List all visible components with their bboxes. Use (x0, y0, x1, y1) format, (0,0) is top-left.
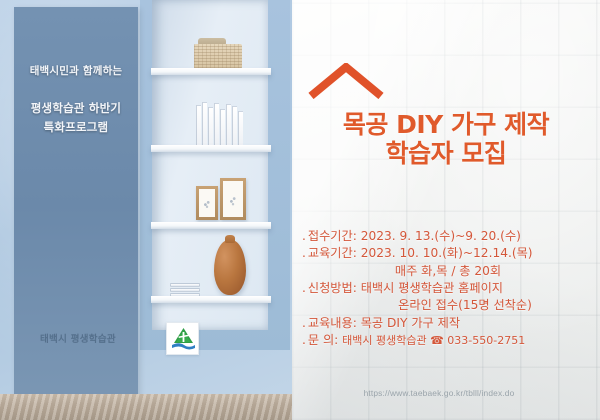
woven-basket (194, 44, 242, 68)
panel-line-3: 특화프로그램 (14, 119, 138, 135)
info-row-online-capacity: 온라인 접수(15명 선착순) (302, 297, 594, 314)
website-url[interactable]: https://www.taebaek.go.kr/tblll/index.do (292, 388, 586, 398)
panel-line-1: 태백시민과 함께하는 (14, 63, 138, 78)
info-bullet: . (302, 246, 306, 260)
info-value: 매주 화,목 / 총 20회 (302, 263, 594, 280)
left-photo-scene: 태백시민과 함께하는 평생학습관 하반기 특화프로그램 태백시 평생학습관 (0, 0, 292, 420)
info-row-schedule: 매주 화,목 / 총 20회 (302, 263, 594, 280)
book-row (196, 102, 246, 145)
shelf-3 (151, 222, 271, 229)
info-value: 2023. 9. 13.(수)~9. 20.(수) (361, 229, 521, 243)
info-label: 신청방법: (308, 281, 357, 295)
panel-line-2: 평생학습관 하반기 (14, 100, 138, 116)
title-line-1: 목공 DIY 가구 제작 (292, 110, 600, 139)
shelf-1 (151, 68, 271, 75)
bookcase-niche (152, 0, 268, 330)
institution-block: 태백시 평생학습관 (40, 318, 260, 358)
taebaek-lifelong-learning-center-logo-icon (166, 322, 199, 355)
picture-frame-large (220, 178, 246, 220)
right-content-scene: 목공 DIY 가구 제작 학습자 모집 .접수기간: 2023. 9. 13.(… (292, 0, 600, 420)
poster-root: 태백시민과 함께하는 평생학습관 하반기 특화프로그램 태백시 평생학습관 (0, 0, 600, 420)
poster-title: 목공 DIY 가구 제작 학습자 모집 (292, 110, 600, 168)
info-value: 태백시 평생학습관 ☎ 033-550-2751 (342, 334, 525, 347)
institution-label: 태백시 평생학습관 (40, 331, 116, 345)
info-label: 문 의: (308, 333, 338, 347)
info-row-course-content: .교육내용: 목공 DIY 가구 제작 (302, 315, 594, 332)
info-row-course-period: .교육기간: 2023. 10. 10.(화)~12.14.(목) (302, 245, 594, 262)
info-row-registration-period: .접수기간: 2023. 9. 13.(수)~9. 20.(수) (302, 228, 594, 245)
info-value: 목공 DIY 가구 제작 (361, 316, 460, 330)
info-bullet: . (302, 316, 306, 330)
info-value: 2023. 10. 10.(화)~12.14.(목) (361, 246, 533, 260)
bookcase-frame (140, 0, 290, 350)
ceramic-vase (214, 240, 246, 295)
stacked-books (170, 283, 200, 295)
info-row-how-to-apply: .신청방법: 태백시 평생학습관 홈페이지 (302, 280, 594, 297)
panel-heading-group: 태백시민과 함께하는 평생학습관 하반기 특화프로그램 (14, 63, 138, 135)
orange-chevron-roof-icon (308, 63, 384, 99)
info-row-contact: .문 의: 태백시 평생학습관 ☎ 033-550-2751 (302, 332, 594, 349)
picture-frame-small (196, 186, 218, 220)
info-value: 태백시 평생학습관 홈페이지 (361, 281, 503, 295)
shelf-2 (151, 145, 271, 152)
title-line-2: 학습자 모집 (292, 139, 600, 168)
info-label: 교육내용: (308, 316, 357, 330)
info-label: 접수기간: (308, 229, 357, 243)
info-list: .접수기간: 2023. 9. 13.(수)~9. 20.(수) .교육기간: … (302, 228, 594, 349)
shelf-4 (151, 296, 271, 303)
info-bullet: . (302, 281, 306, 295)
info-bullet: . (302, 229, 306, 243)
info-bullet: . (302, 333, 306, 347)
info-label: 교육기간: (308, 246, 357, 260)
wood-floor (0, 394, 292, 420)
info-value: 온라인 접수(15명 선착순) (302, 297, 594, 314)
